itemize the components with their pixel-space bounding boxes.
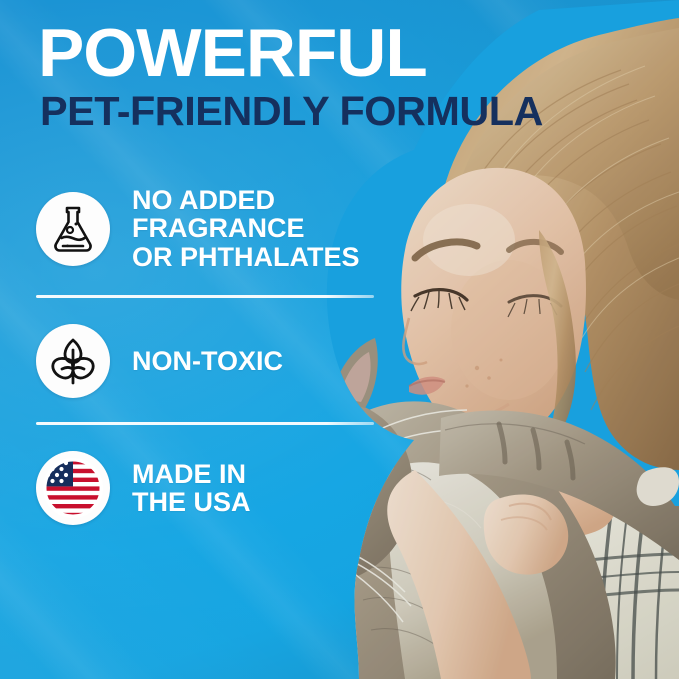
headline-block: POWERFUL PET-FRIENDLY FORMULA <box>38 22 538 132</box>
feature-item-non-toxic: NON-TOXIC <box>36 324 436 398</box>
feature-divider <box>36 295 374 298</box>
product-marketing-banner: POWERFUL PET-FRIENDLY FORMULA NO ADDED F… <box>0 0 679 679</box>
flask-icon <box>36 192 110 266</box>
page-title: POWERFUL <box>38 22 548 85</box>
feature-item-made-in-usa: MADE IN THE USA <box>36 451 436 525</box>
feature-item-no-added-fragrance: NO ADDED FRAGRANCE OR PHTHALATES <box>36 186 436 271</box>
feature-list: NO ADDED FRAGRANCE OR PHTHALATES <box>36 186 436 525</box>
feature-label: NON-TOXIC <box>132 347 283 375</box>
plant-leaf-icon <box>36 324 110 398</box>
feature-label: NO ADDED FRAGRANCE OR PHTHALATES <box>132 186 360 271</box>
page-subtitle: PET-FRIENDLY FORMULA <box>40 91 543 132</box>
feature-label: MADE IN THE USA <box>132 460 251 517</box>
usa-flag-icon <box>36 451 110 525</box>
feature-divider <box>36 422 374 425</box>
